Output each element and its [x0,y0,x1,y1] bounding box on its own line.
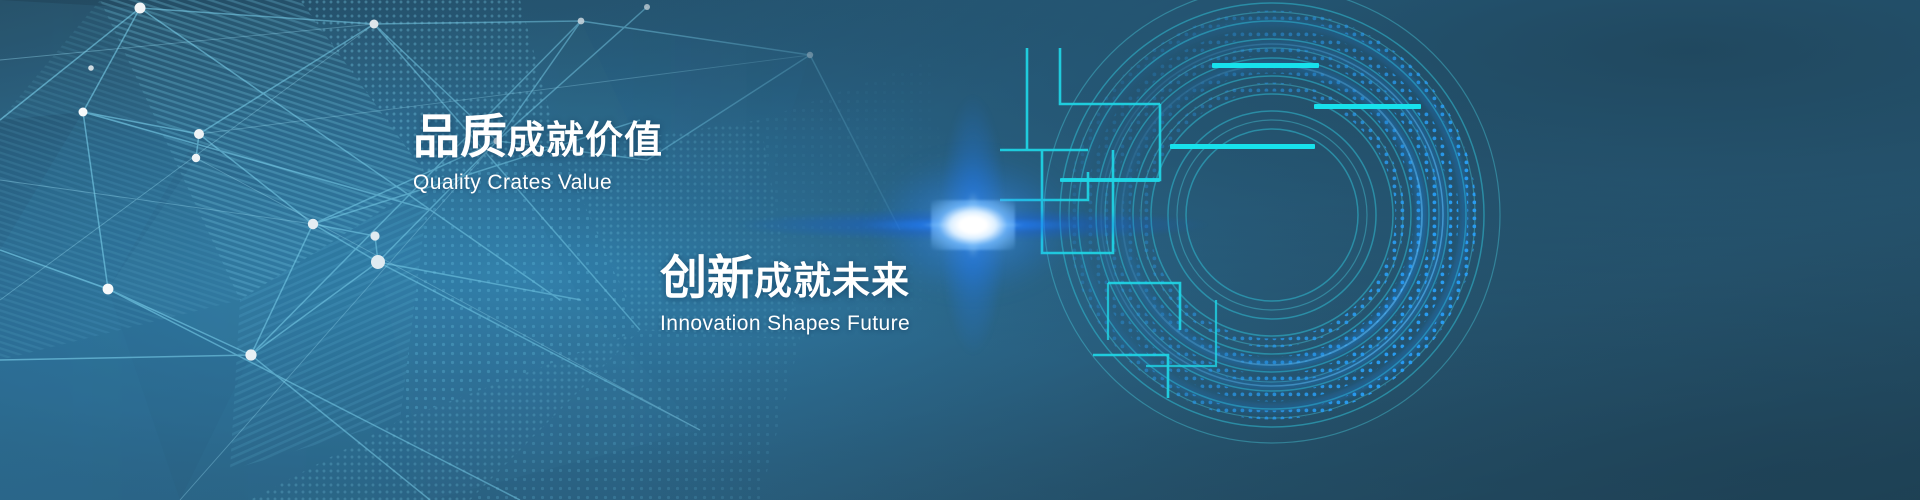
flare-core [931,200,1015,250]
tagline-innovation-chinese-lead: 创新 [660,251,754,304]
tagline-innovation: 创新成就未来 Innovation Shapes Future [660,253,910,336]
accent-bar-middle [1314,104,1421,109]
hero-banner: 品质成就价值 Quality Crates Value 创新成就未来 Innov… [0,0,1920,500]
accent-bar-top [1212,63,1319,68]
tagline-innovation-english: Innovation Shapes Future [660,312,910,336]
tagline-quality-chinese-rest: 成就价值 [507,120,663,162]
tagline-quality-english: Quality Crates Value [413,171,663,195]
tagline-innovation-chinese-rest: 成就未来 [754,261,910,303]
tagline-quality: 品质成就价值 Quality Crates Value [413,112,663,195]
tagline-quality-chinese-lead: 品质 [413,110,507,163]
tagline-innovation-chinese: 创新成就未来 [660,253,910,304]
tagline-quality-chinese: 品质成就价值 [413,112,663,163]
